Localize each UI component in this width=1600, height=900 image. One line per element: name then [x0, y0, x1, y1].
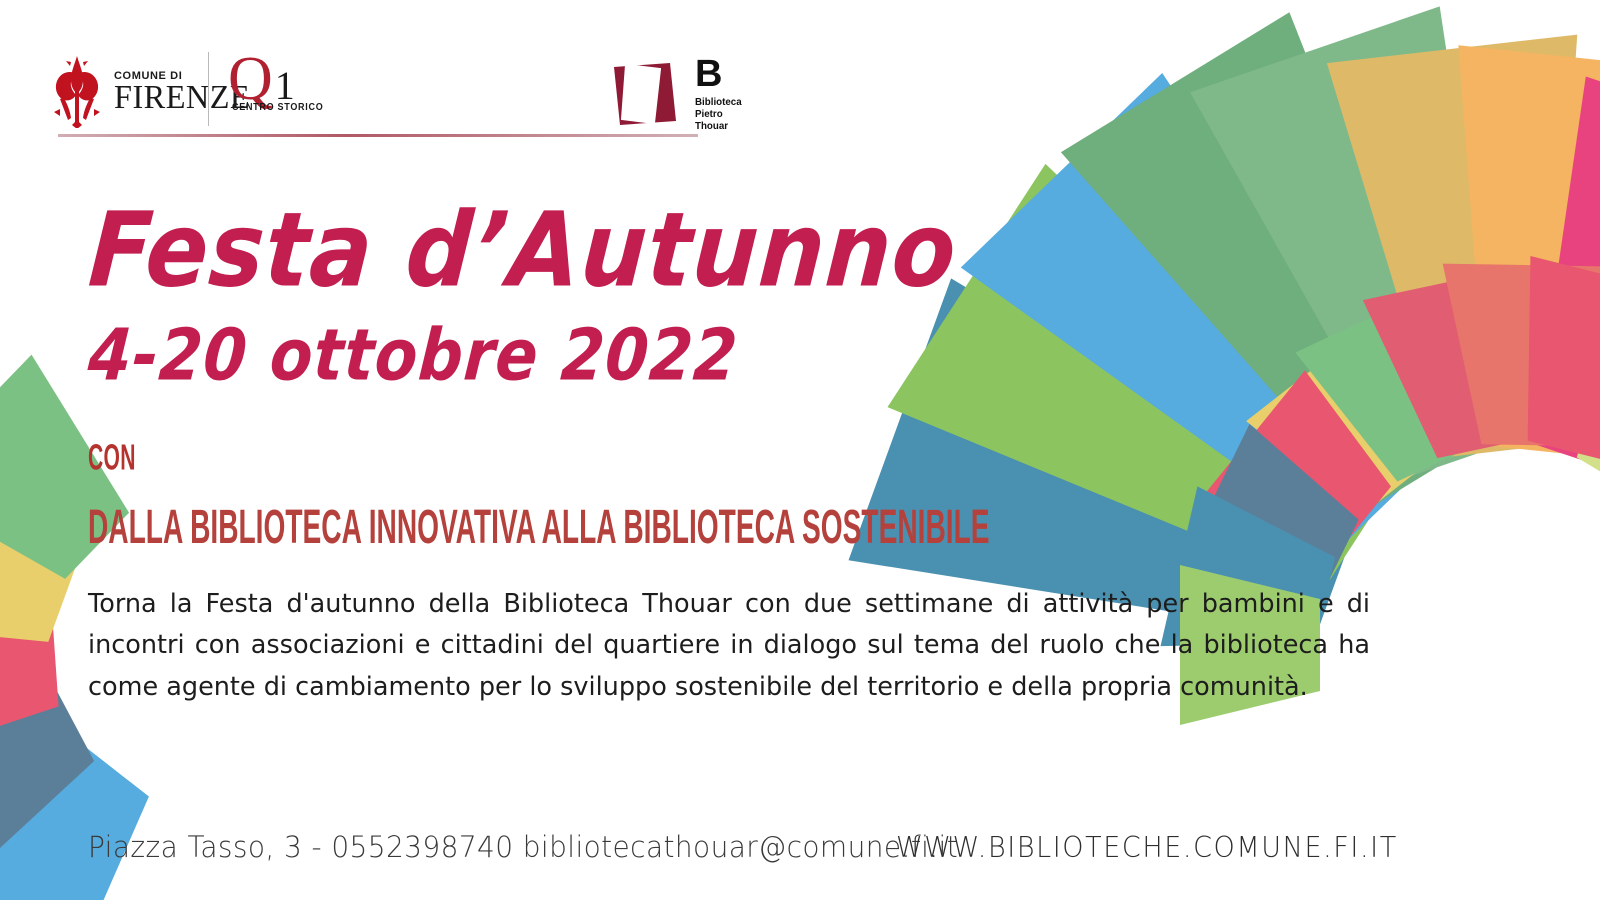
logo-underline-rule [58, 134, 698, 137]
logo-divider [208, 52, 209, 126]
event-date: 4-20 ottobre 2022 [86, 320, 1091, 391]
thouar-line1: Biblioteca [695, 96, 746, 108]
q1-wordmark: Q 1 [228, 52, 334, 108]
q1-number: 1 [275, 68, 295, 104]
event-subtitle: DALLA BIBLIOTECA INNOVATIVA ALLA BIBLIOT… [88, 502, 990, 551]
poster-canvas: COMUNE DI FIRENZE Q 1 CENTRO STORICO [0, 0, 1600, 900]
con-label: CON [88, 440, 136, 476]
logo-bar: COMUNE DI FIRENZE Q 1 CENTRO STORICO [50, 46, 750, 146]
headline-block: Festa d’Autunno 4-20 ottobre 2022 [86, 212, 1086, 391]
thouar-wordmark: B Biblioteca Pietro Thouar [695, 56, 750, 132]
biblioteca-thouar-logo: B Biblioteca Pietro Thouar [610, 56, 750, 132]
contact-info: Piazza Tasso, 3 - 0552398740 bibliotecat… [88, 833, 958, 862]
website-url[interactable]: WWW.BIBLIOTECHE.COMUNE.FI.IT [896, 834, 1398, 862]
quartiere-q1-logo: Q 1 CENTRO STORICO [228, 52, 334, 113]
thouar-line2: Pietro Thouar [695, 108, 746, 132]
description-paragraph: Torna la Festa d'autunno della Bibliotec… [88, 584, 1370, 708]
giglio-fiorentino-icon [50, 54, 104, 128]
arc-bottom-right-group [1589, 325, 1600, 610]
q1-letter: Q [228, 52, 273, 108]
open-book-icon [610, 61, 684, 127]
thouar-letter-b: B [695, 56, 750, 92]
comune-di-firenze-logo: COMUNE DI FIRENZE [50, 54, 257, 128]
page-title: Festa d’Autunno [86, 202, 1093, 300]
q1-subtitle: CENTRO STORICO [232, 102, 323, 113]
